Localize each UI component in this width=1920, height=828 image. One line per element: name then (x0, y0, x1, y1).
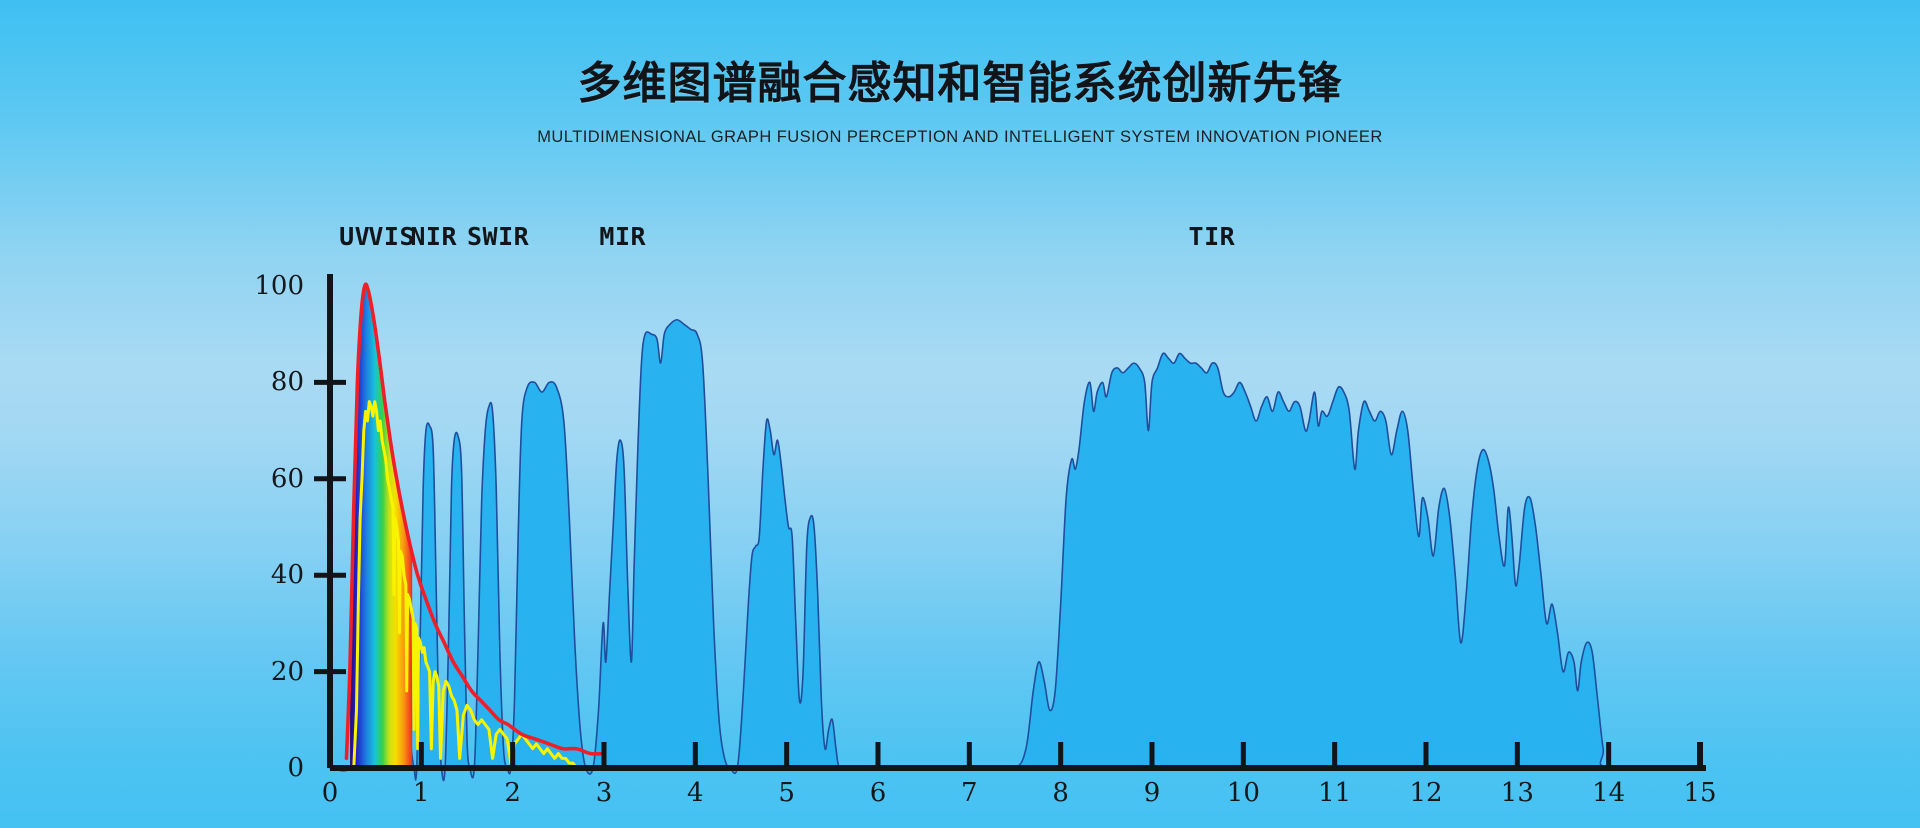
x-axis-tick-8: 8 (1052, 778, 1069, 808)
x-axis-tick-11: 11 (1318, 778, 1351, 808)
band-label-uv: UV (339, 222, 370, 251)
spectral-chart-svg (0, 0, 1920, 828)
y-axis-tick-20: 20 (271, 657, 304, 687)
x-axis-tick-5: 5 (778, 778, 795, 808)
x-axis-tick-4: 4 (687, 778, 704, 808)
y-axis-tick-0: 0 (287, 753, 304, 783)
y-axis-tick-40: 40 (271, 560, 304, 590)
band-label-vis: VIS (368, 222, 415, 251)
x-axis-tick-15: 15 (1683, 778, 1716, 808)
x-axis-tick-10: 10 (1227, 778, 1260, 808)
x-axis-tick-2: 2 (504, 778, 521, 808)
band-label-swir: SWIR (467, 222, 529, 251)
x-axis-tick-6: 6 (870, 778, 887, 808)
poster-stage: 多维图谱融合感知和智能系统创新先锋 MULTIDIMENSIONAL GRAPH… (0, 0, 1920, 828)
band-label-tir: TIR (1189, 222, 1236, 251)
x-axis-tick-7: 7 (961, 778, 978, 808)
band-label-mir: MIR (599, 222, 646, 251)
transmission-area (330, 320, 1700, 781)
y-axis-tick-60: 60 (271, 464, 304, 494)
x-axis-tick-0: 0 (322, 778, 339, 808)
x-axis-tick-9: 9 (1144, 778, 1161, 808)
y-axis-tick-100: 100 (254, 271, 304, 301)
y-axis-tick-80: 80 (271, 367, 304, 397)
x-axis-tick-1: 1 (413, 778, 430, 808)
x-axis-tick-13: 13 (1501, 778, 1534, 808)
x-axis-tick-12: 12 (1409, 778, 1442, 808)
x-axis-tick-14: 14 (1592, 778, 1625, 808)
spectral-chart: UVVISNIRSWIRMIRTIR 020406080100012345678… (0, 0, 1920, 828)
x-axis-tick-3: 3 (596, 778, 613, 808)
band-label-nir: NIR (410, 222, 457, 251)
